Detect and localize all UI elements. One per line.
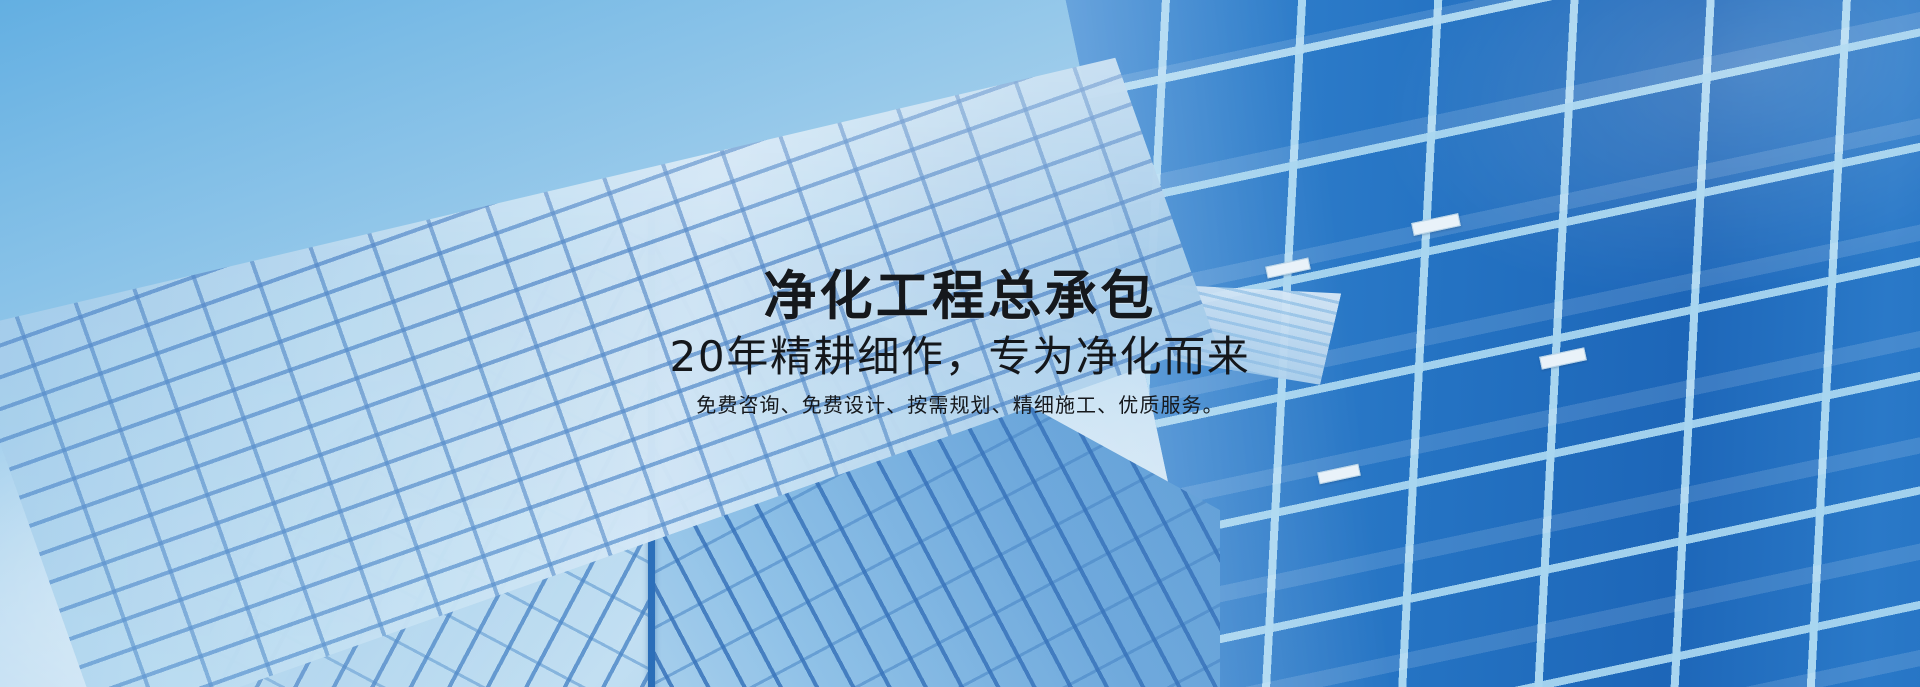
hero-banner: 净化工程总承包 20年精耕细作，专为净化而来 免费咨询、免费设计、按需规划、精细…: [0, 0, 1920, 687]
